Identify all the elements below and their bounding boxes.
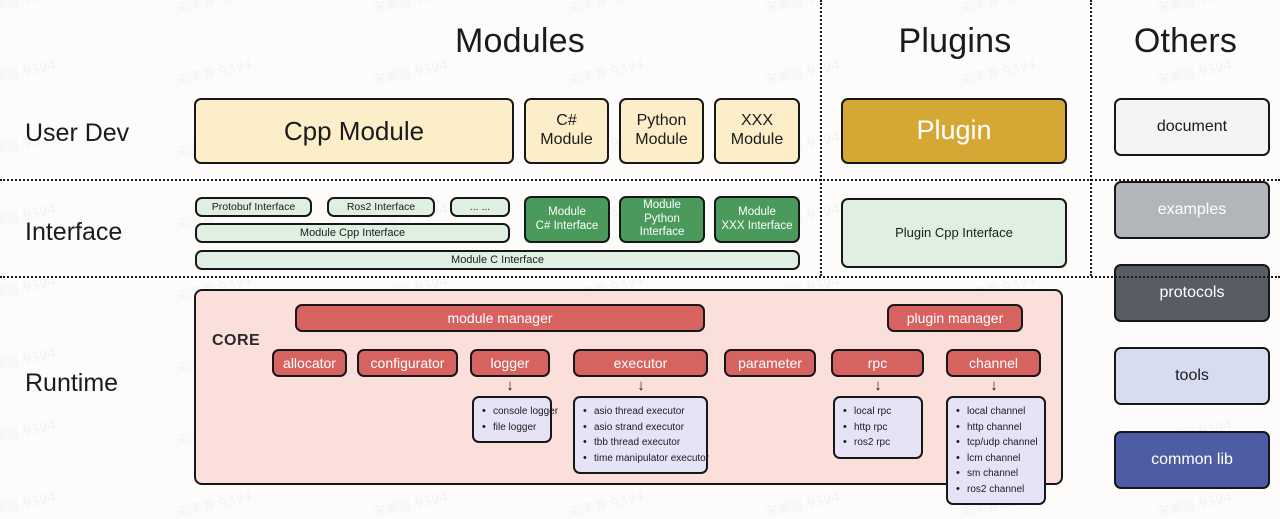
others-item-protocols[interactable]: protocols [1114,264,1270,322]
column-header-plugins: Plugins [830,22,1080,61]
watermark-text: 宋美蓉 9394 [0,0,57,17]
list-item: tcp/udp channel [956,435,1034,451]
list-item: time manipulator executor [583,451,696,467]
watermark-text: 宋美蓉 9394 [959,0,1038,17]
arrow-down-channel-icon: ↓ [980,378,1008,393]
list-item: console logger [482,404,540,420]
interface-protobuf[interactable]: Protobuf Interface [195,197,312,217]
list-item: lcm channel [956,451,1034,467]
watermark-text: 宋美蓉 9394 [1155,0,1234,17]
others-item-examples[interactable]: examples [1114,181,1270,239]
runtime-component-configurator[interactable]: configurator [357,349,458,377]
list-item: file logger [482,420,540,436]
watermark-text: 宋美蓉 9394 [371,0,450,17]
rpc-implementations-list: local rpchttp rpcros2 rpc [833,396,923,459]
row-label-runtime: Runtime [25,369,118,398]
divider-plugins-others [1090,0,1092,276]
interface-module-c[interactable]: Module C Interface [195,250,800,270]
watermark-text: 宋美蓉 9394 [763,486,842,519]
watermark-text: 宋美蓉 9394 [1155,486,1234,519]
interface-module-python[interactable]: Module Python Interface [619,196,705,243]
watermark-text: 宋美蓉 9394 [0,54,57,88]
watermark-text: 宋美蓉 9394 [0,414,57,448]
user-dev-plugin[interactable]: Plugin [841,98,1067,164]
list-item: tbb thread executor [583,435,696,451]
divider-modules-plugins [820,0,822,276]
divider-user-dev-interface [0,179,1280,181]
runtime-component-executor[interactable]: executor [573,349,708,377]
executor-implementations-list: asio thread executorasio strand executor… [573,396,708,474]
channel-implementations-list: local channelhttp channeltcp/udp channel… [946,396,1046,505]
watermark-text: 宋美蓉 9394 [567,486,646,519]
interface-plugin-cpp[interactable]: Plugin Cpp Interface [841,198,1067,268]
runtime-component-logger[interactable]: logger [470,349,550,377]
core-label: CORE [212,332,260,350]
list-item: local rpc [843,404,911,420]
list-item: http rpc [843,420,911,436]
column-header-others: Others [1098,22,1273,61]
watermark-text: 宋美蓉 9394 [567,0,646,17]
others-item-document[interactable]: document [1114,98,1270,156]
watermark-text: 宋美蓉 9394 [175,486,254,519]
list-item: ros2 rpc [843,435,911,451]
arrow-down-rpc-icon: ↓ [864,378,892,393]
runtime-component-allocator[interactable]: allocator [272,349,347,377]
list-item: local channel [956,404,1034,420]
arrow-down-logger-icon: ↓ [496,378,524,393]
row-label-interface: Interface [25,218,122,247]
runtime-module-manager[interactable]: module manager [295,304,705,332]
interface-module-csharp[interactable]: Module C# Interface [524,196,610,243]
list-item: asio thread executor [583,404,696,420]
others-item-tools[interactable]: tools [1114,347,1270,405]
interface-ellipsis[interactable]: ... ... [450,197,510,217]
runtime-component-channel[interactable]: channel [946,349,1041,377]
user-dev-python-module[interactable]: Python Module [619,98,704,164]
list-item: sm channel [956,466,1034,482]
runtime-core-panel: CORE module manager plugin manager alloc… [194,289,1063,485]
interface-module-xxx[interactable]: Module XXX Interface [714,196,800,243]
column-header-modules: Modules [320,22,720,61]
runtime-component-parameter[interactable]: parameter [724,349,816,377]
watermark-text: 宋美蓉 9394 [763,0,842,17]
divider-interface-runtime [0,276,1280,278]
row-label-user-dev: User Dev [25,119,129,148]
runtime-plugin-manager[interactable]: plugin manager [887,304,1023,332]
list-item: asio strand executor [583,420,696,436]
watermark-text: 宋美蓉 9394 [0,486,57,519]
user-dev-cpp-module[interactable]: Cpp Module [194,98,514,164]
interface-ros2[interactable]: Ros2 Interface [327,197,435,217]
others-item-common-lib[interactable]: common lib [1114,431,1270,489]
user-dev-xxx-module[interactable]: XXX Module [714,98,800,164]
list-item: ros2 channel [956,482,1034,498]
list-item: http channel [956,420,1034,436]
arrow-down-executor-icon: ↓ [627,378,655,393]
runtime-component-rpc[interactable]: rpc [831,349,924,377]
watermark-text: 宋美蓉 9394 [175,54,254,88]
user-dev-csharp-module[interactable]: C# Module [524,98,609,164]
watermark-text: 宋美蓉 9394 [175,0,254,17]
logger-implementations-list: console loggerfile logger [472,396,552,443]
architecture-diagram: 宋美蓉 9394宋美蓉 9394宋美蓉 9394宋美蓉 9394宋美蓉 9394… [0,0,1280,519]
watermark-text: 宋美蓉 9394 [371,486,450,519]
interface-module-cpp[interactable]: Module Cpp Interface [195,223,510,243]
